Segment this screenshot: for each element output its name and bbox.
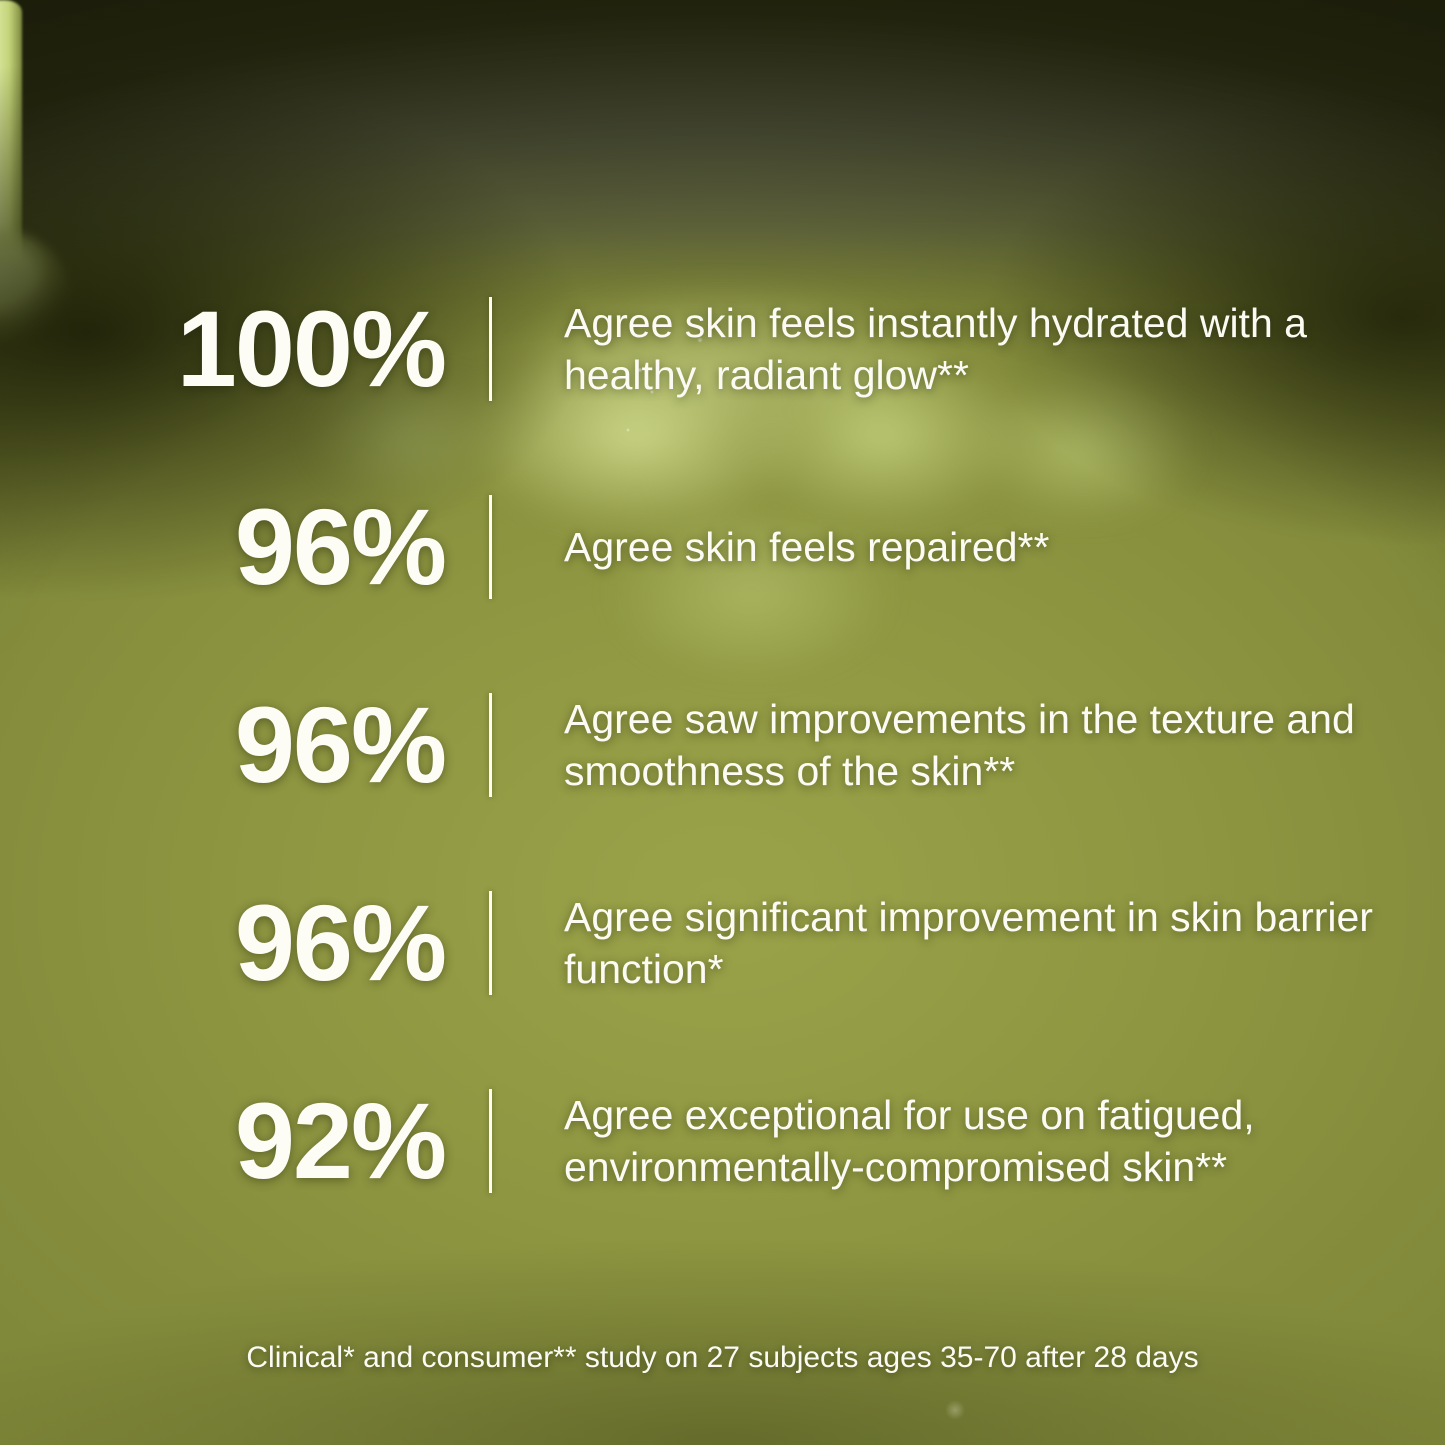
stat-claim-text: Agree skin feels repaired** bbox=[564, 521, 1445, 573]
stat-percentage: 100% bbox=[0, 295, 445, 403]
stat-row: 96% Agree skin feels repaired** bbox=[0, 448, 1445, 646]
stat-claim-text: Agree exceptional for use on fatigued, e… bbox=[564, 1089, 1445, 1194]
stat-row: 92% Agree exceptional for use on fatigue… bbox=[0, 1042, 1445, 1240]
stat-claim-text: Agree skin feels instantly hydrated with… bbox=[564, 297, 1445, 402]
stat-claim-text: Agree saw improvements in the texture an… bbox=[564, 693, 1445, 798]
stat-divider-line bbox=[489, 495, 492, 599]
stat-row: 96% Agree significant improvement in ski… bbox=[0, 844, 1445, 1042]
study-footnote: Clinical* and consumer** study on 27 sub… bbox=[0, 1338, 1445, 1377]
stat-divider-line bbox=[489, 693, 492, 797]
stat-claim-text: Agree significant improvement in skin ba… bbox=[564, 891, 1445, 996]
stat-divider-line bbox=[489, 891, 492, 995]
stat-row: 100% Agree skin feels instantly hydrated… bbox=[0, 250, 1445, 448]
stat-divider-line bbox=[489, 297, 492, 401]
claims-graphic: 100% Agree skin feels instantly hydrated… bbox=[0, 0, 1445, 1445]
stat-divider-line bbox=[489, 1089, 492, 1193]
stat-percentage: 92% bbox=[0, 1087, 445, 1195]
stat-percentage: 96% bbox=[0, 889, 445, 997]
stat-percentage: 96% bbox=[0, 493, 445, 601]
statistics-list: 100% Agree skin feels instantly hydrated… bbox=[0, 250, 1445, 1240]
stat-row: 96% Agree saw improvements in the textur… bbox=[0, 646, 1445, 844]
stat-percentage: 96% bbox=[0, 691, 445, 799]
